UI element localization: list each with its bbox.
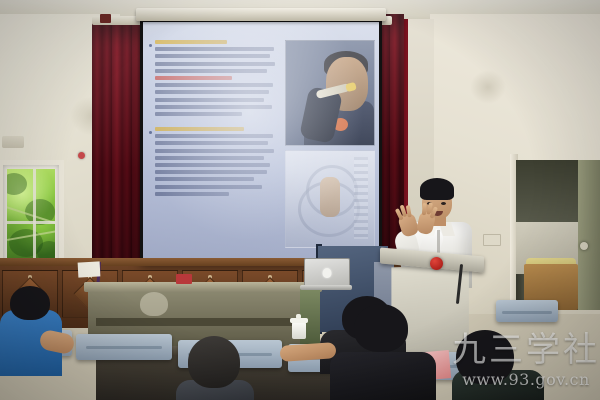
seat-back <box>76 334 172 360</box>
door-leaf[interactable] <box>578 160 600 310</box>
attendee-rear-left <box>140 292 170 322</box>
attendee-left-blue <box>0 286 70 376</box>
podium-emblem-icon <box>430 257 443 270</box>
window <box>0 160 64 272</box>
slide-paragraph-2: 宇航员要把脖子以下一个圆桶的房间，不能飘浮的身体被束缚住一块身子和喷淋的小水流，… <box>149 127 279 199</box>
macbook-laptop[interactable] <box>300 258 352 294</box>
spacecraft-cabin-photo <box>285 150 375 248</box>
astronaut-drinking-photo <box>285 40 375 146</box>
slide-text-column: 失重时刷牙、牙膏泡沫很容易飘起来，水珠也顺着飞舞，会影响人的健康和改善正常运转。… <box>149 40 279 253</box>
slide-heading-line <box>155 40 227 44</box>
presenter-table-top <box>84 282 322 292</box>
presenter-table-shelf <box>96 318 306 326</box>
bullet-icon <box>149 44 152 47</box>
attendee-center-grey <box>176 336 254 400</box>
wall-vent <box>2 136 24 148</box>
bullet-icon <box>149 131 152 134</box>
light-switch[interactable] <box>483 234 501 246</box>
doorway <box>516 160 600 310</box>
attendee-right-black <box>330 326 440 400</box>
door-knob-icon[interactable] <box>580 242 588 250</box>
wall-smudge <box>470 70 506 104</box>
cup-knob <box>296 314 301 319</box>
wall-pin <box>78 152 85 159</box>
window-glass <box>7 169 55 263</box>
paper-sheet <box>78 261 101 277</box>
red-sign <box>176 274 192 284</box>
slide-paragraph-1: 失重时刷牙、牙膏泡沫很容易飘起来，水珠也顺着飞舞，会影响人的健康和改善正常运转。… <box>149 40 279 119</box>
seat-back <box>496 300 558 322</box>
projection-screen-frame: 失重时刷牙、牙膏泡沫很容易飘起来，水珠也顺着飞舞，会影响人的健康和改善正常运转。… <box>140 19 382 262</box>
projection-screen: 失重时刷牙、牙膏泡沫很容易飘起来，水珠也顺着飞舞，会影响人的健康和改善正常运转。… <box>143 22 379 259</box>
laptop-base <box>300 285 352 290</box>
apple-logo-icon <box>323 268 332 278</box>
projection-screen-roller <box>136 8 386 21</box>
curtain-rail-bracket <box>100 14 111 23</box>
attendee-far-right <box>452 330 544 400</box>
laptop-lid <box>304 258 350 288</box>
thermos-cup <box>292 322 306 339</box>
photo-scene: 失重时刷牙、牙膏泡沫很容易飘起来，水珠也顺着飞舞，会影响人的健康和改善正常运转。… <box>0 0 600 400</box>
